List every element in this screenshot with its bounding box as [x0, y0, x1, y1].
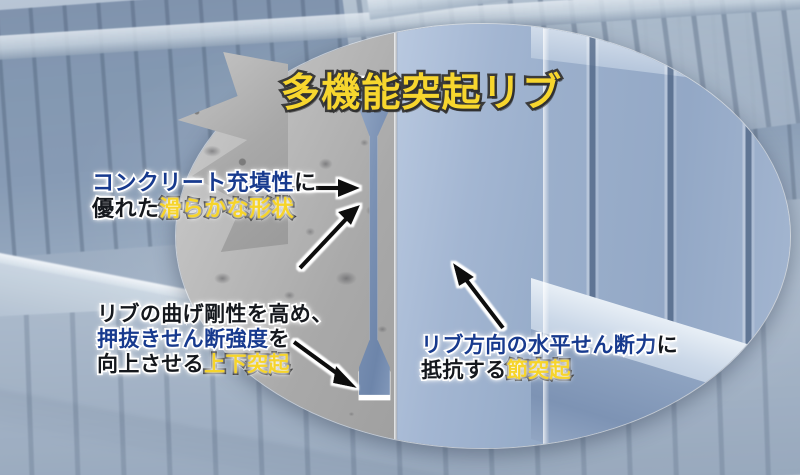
callout-node-protrusion-line2: 抵抗する節突起 [421, 359, 678, 384]
callout-node-protrusion: リブ方向の水平せん断力に 抵抗する節突起 [421, 334, 678, 384]
callout-smooth-shape: コンクリート充填性に 優れた滑らかな形状 [92, 170, 316, 222]
callout-smooth-shape-line1: コンクリート充填性に [92, 170, 316, 196]
arrow-node-protrusion [453, 263, 503, 328]
callout-updown-protrusion: リブの曲げ剛性を高め、 押抜きせん断強度を 向上させる上下突起 [97, 303, 333, 377]
page-title: 多機能突起リブ [281, 62, 562, 118]
callout-updown-protrusion-line2: 押抜きせん断強度を [97, 328, 333, 353]
callout-updown-protrusion-line3: 向上させる上下突起 [97, 353, 333, 378]
callout-updown-protrusion-line1: リブの曲げ剛性を高め、 [97, 303, 333, 328]
callout-smooth-shape-line2: 優れた滑らかな形状 [92, 196, 316, 222]
illustration-canvas: 多機能突起リブ コンクリート充填性に 優れた滑らかな形状 リブの曲げ剛性を高め、… [0, 0, 800, 475]
callout-node-protrusion-line1: リブ方向の水平せん断力に [421, 334, 678, 359]
